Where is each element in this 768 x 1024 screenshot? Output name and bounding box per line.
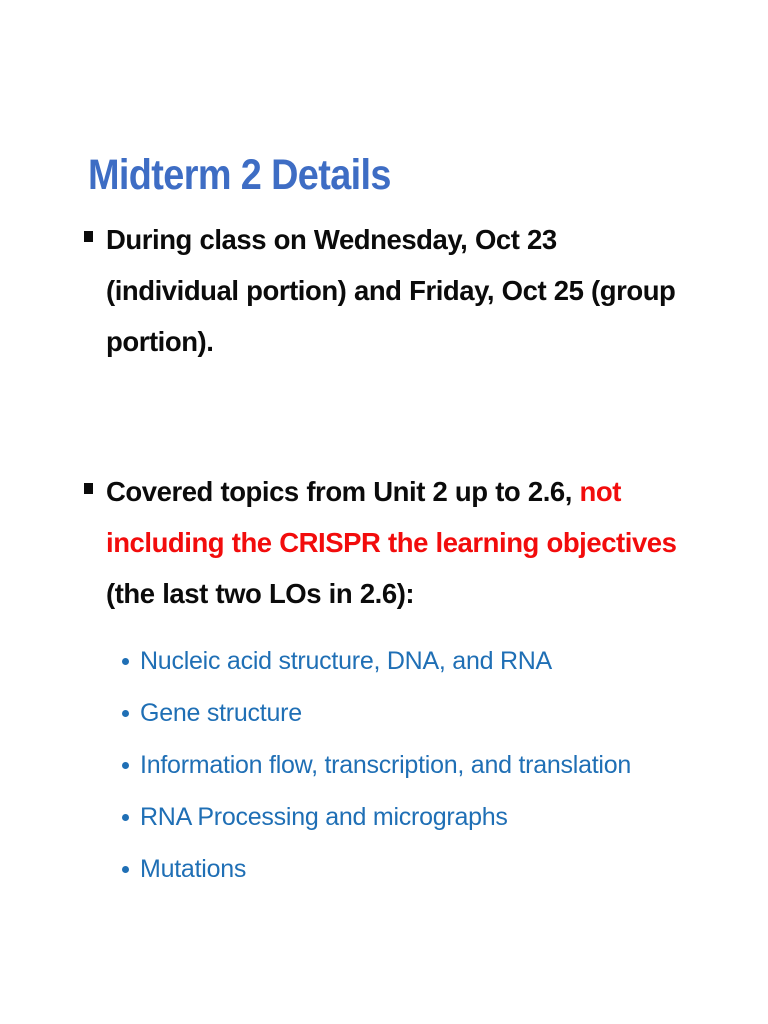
sub-bullet-label: Nucleic acid structure, DNA, and RNA (140, 647, 552, 675)
sub-bullet-label: RNA Processing and micrographs (140, 803, 508, 831)
sub-bullet-item-2: Gene structure (84, 687, 696, 739)
square-bullet-icon (84, 483, 93, 494)
sub-bullet-label: Mutations (140, 855, 246, 883)
sub-bullet-item-4: RNA Processing and micrographs (84, 791, 696, 843)
round-bullet-icon (122, 658, 129, 665)
slide-canvas: Midterm 2 Details During class on Wednes… (0, 0, 768, 1024)
bullet-2-text-part-2: (the last two LOs in 2.6): (106, 578, 414, 609)
bullet-item-2: Covered topics from Unit 2 up to 2.6, no… (84, 466, 696, 619)
sub-bullet-item-5: Mutations (84, 843, 696, 895)
round-bullet-icon (122, 710, 129, 717)
sub-bullet-item-1: Nucleic acid structure, DNA, and RNA (84, 635, 696, 687)
sub-bullet-item-3: Information flow, transcription, and tra… (84, 739, 696, 791)
round-bullet-icon (122, 814, 129, 821)
square-bullet-icon (84, 231, 93, 242)
sub-bullet-label: Gene structure (140, 699, 302, 727)
bullet-item-1: During class on Wednesday, Oct 23 (indiv… (84, 214, 696, 367)
bullet-1-text: During class on Wednesday, Oct 23 (indiv… (106, 224, 675, 357)
sub-bullet-label: Information flow, transcription, and tra… (140, 751, 631, 779)
slide-body: During class on Wednesday, Oct 23 (indiv… (84, 214, 696, 895)
sub-bullet-list: Nucleic acid structure, DNA, and RNA Gen… (84, 635, 696, 895)
round-bullet-icon (122, 866, 129, 873)
page-title: Midterm 2 Details (88, 151, 616, 199)
paragraph-spacer (84, 367, 696, 466)
bullet-2-text-part-1: Covered topics from Unit 2 up to 2.6, (106, 476, 580, 507)
round-bullet-icon (122, 762, 129, 769)
